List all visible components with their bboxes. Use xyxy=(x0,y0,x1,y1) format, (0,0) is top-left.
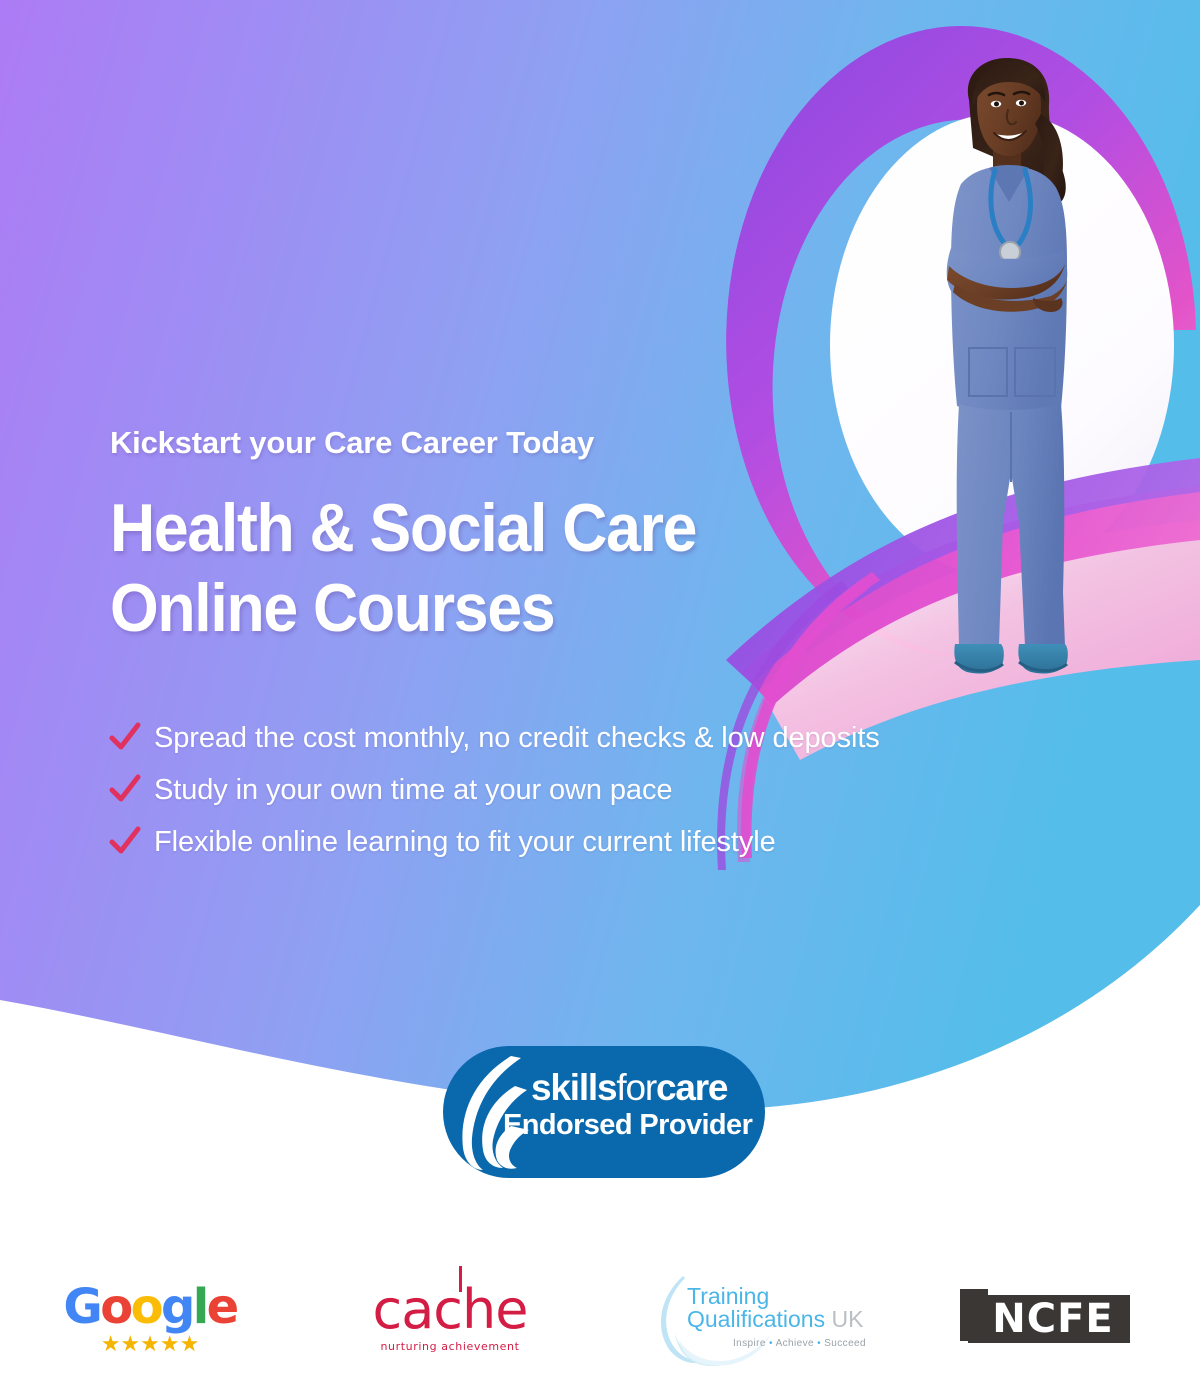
sfc-brand-for: for xyxy=(616,1067,656,1108)
sfc-subtitle: Endorsed Provider xyxy=(503,1108,761,1142)
check-icon xyxy=(108,721,154,755)
accreditation-logo-row: Google ★★★★★ cache nurturing achievement… xyxy=(0,1258,1200,1378)
hero-eyebrow: Kickstart your Care Career Today xyxy=(110,425,1060,461)
tquk-tagline-a: Inspire xyxy=(733,1338,766,1349)
skills-for-care-badge: skillsforcare Endorsed Provider xyxy=(443,1046,765,1178)
google-letter-o1: o xyxy=(100,1279,130,1335)
google-logo: Google ★★★★★ xyxy=(0,1282,300,1355)
skills-for-care-wordmark: skillsforcare Endorsed Provider xyxy=(531,1068,761,1142)
google-letter-g1: G xyxy=(63,1279,100,1335)
list-item: Flexible online learning to fit your cur… xyxy=(108,816,1088,868)
tquk-line-2-uk: UK xyxy=(831,1306,863,1332)
cache-logo: cache nurturing achievement xyxy=(300,1283,600,1353)
tquk-tagline-b: Achieve xyxy=(776,1338,814,1349)
tquk-tagline: Inspire • Achieve • Succeed xyxy=(733,1338,866,1349)
benefit-text: Spread the cost monthly, no credit check… xyxy=(154,722,880,755)
hero-copy: Kickstart your Care Career Today Health … xyxy=(110,425,1060,648)
google-letter-e: e xyxy=(207,1279,237,1335)
sfc-brand-line: skillsforcare xyxy=(531,1068,761,1108)
check-icon xyxy=(108,773,154,807)
tquk-line-2: Qualifications UK xyxy=(687,1307,863,1332)
google-wordmark: Google xyxy=(63,1282,236,1332)
tquk-tagline-c: Succeed xyxy=(824,1338,866,1349)
tquk-tagline-sep-2: • xyxy=(817,1338,821,1349)
check-icon xyxy=(108,825,154,859)
google-letter-g2: g xyxy=(161,1279,193,1335)
page-title: Health & Social Care Online Courses xyxy=(110,489,984,648)
tquk-logo: Training Qualifications UK Inspire • Ach… xyxy=(600,1270,900,1366)
cache-wordmark: cache xyxy=(373,1283,528,1337)
promo-banner: Kickstart your Care Career Today Health … xyxy=(0,0,1200,1400)
list-item: Spread the cost monthly, no credit check… xyxy=(108,712,1088,764)
list-item: Study in your own time at your own pace xyxy=(108,764,1088,816)
tquk-tagline-sep-1: • xyxy=(769,1338,773,1349)
benefit-text: Study in your own time at your own pace xyxy=(154,774,672,807)
headline-line-1: Health & Social Care xyxy=(110,490,696,566)
tquk-wordmark-wrap: Training Qualifications UK Inspire • Ach… xyxy=(645,1270,855,1366)
ncfe-logo: NCFE xyxy=(900,1285,1200,1351)
headline-line-2: Online Courses xyxy=(110,570,554,646)
sfc-brand-care: care xyxy=(656,1067,727,1108)
cache-wordmark-wrap: cache nurturing achievement xyxy=(373,1283,528,1353)
benefits-list: Spread the cost monthly, no credit check… xyxy=(108,712,1088,868)
benefit-text: Flexible online learning to fit your cur… xyxy=(154,826,776,859)
cache-tagline: nurturing achievement xyxy=(373,1340,528,1353)
google-letter-o2: o xyxy=(131,1279,161,1335)
tquk-line-2-main: Qualifications xyxy=(687,1306,825,1332)
star-rating-icon: ★★★★★ xyxy=(101,1333,200,1355)
ncfe-wordmark-wrap: NCFE xyxy=(960,1285,1140,1351)
google-letter-l: l xyxy=(193,1279,207,1335)
cache-accent-icon xyxy=(459,1266,462,1292)
sfc-brand-skills: skills xyxy=(531,1067,616,1108)
ncfe-wordmark: NCFE xyxy=(972,1295,1134,1343)
